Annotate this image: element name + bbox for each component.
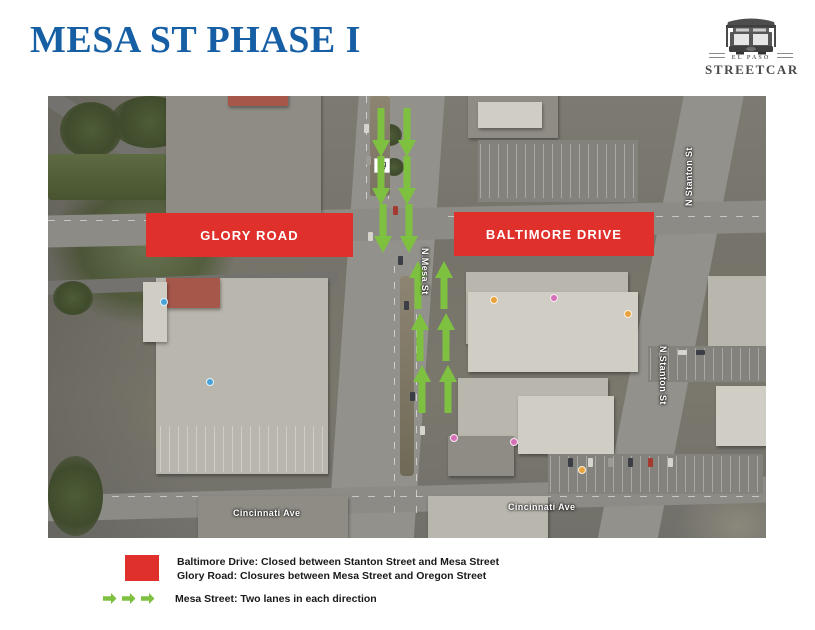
legend-line-baltimore: Baltimore Drive: Closed between Stanton … [177, 555, 499, 569]
vehicle [668, 458, 673, 467]
legend-item-closures: Baltimore Drive: Closed between Stanton … [125, 555, 499, 583]
street-label-cincinnati-ave-west: Cincinnati Ave [233, 508, 300, 518]
building-block-right-mid [468, 292, 638, 372]
streetcar-icon [720, 14, 782, 58]
southbound-lane-arrow [370, 156, 392, 206]
vehicle [420, 426, 425, 435]
right-arrow-icon [103, 592, 117, 605]
map-legend: Baltimore Drive: Closed between Stanton … [0, 540, 815, 630]
page-title: MESA ST PHASE I [30, 18, 361, 62]
right-arrow-icon [141, 592, 155, 605]
street-label-n-mesa-st: N Mesa St [420, 248, 430, 295]
poi-marker [624, 310, 632, 318]
vehicle [398, 256, 403, 265]
building-top-right-2 [478, 102, 542, 128]
vegetation-median-1 [48, 154, 168, 200]
building-arena [166, 96, 321, 218]
aerial-map[interactable]: N Mesa St N Stanton St N Stanton St Cinc… [48, 96, 766, 538]
southbound-lane-arrow [372, 204, 394, 254]
building-roof-right-dark [448, 436, 514, 476]
legend-item-lanes: Mesa Street: Two lanes in each direction [103, 592, 377, 605]
building-far-right-2 [716, 386, 766, 446]
legend-closures-text: Baltimore Drive: Closed between Stanton … [177, 555, 499, 583]
northbound-lane-arrow [409, 312, 431, 362]
banner-baltimore-drive-label: BALTIMORE DRIVE [486, 227, 622, 242]
lane-dash-mesa-1 [366, 96, 367, 206]
vegetation-patch-3 [53, 281, 93, 315]
street-label-cincinnati-ave-east: Cincinnati Ave [508, 502, 575, 512]
logo-wordmark: STREETCAR [705, 63, 797, 76]
vehicle [678, 350, 687, 355]
vehicle [696, 350, 705, 355]
lane-dash-mesa-3 [394, 266, 395, 516]
northbound-lane-arrow [437, 364, 459, 414]
poi-marker [510, 438, 518, 446]
poi-marker [550, 294, 558, 302]
map-canvas: N Mesa St N Stanton St N Stanton St Cinc… [48, 96, 766, 538]
parking-stripes-bottom-right [550, 456, 760, 492]
legend-green-arrows-swatch [103, 592, 159, 605]
building-block-right-strip [518, 396, 614, 454]
vehicle [588, 458, 593, 467]
vehicle [608, 458, 613, 467]
street-label-n-stanton-st-lower: N Stanton St [658, 346, 668, 405]
poi-marker [160, 298, 168, 306]
lane-dash-cincinnati [48, 496, 766, 497]
banner-glory-road-label: GLORY ROAD [200, 228, 298, 243]
right-arrow-icon [122, 592, 136, 605]
parking-stripes-top-right [480, 144, 636, 198]
el-paso-streetcar-logo: EL PASO STREETCAR [705, 14, 797, 86]
legend-red-square-swatch [125, 555, 159, 581]
poi-marker [490, 296, 498, 304]
building-far-right-1 [708, 276, 766, 346]
poi-marker [450, 434, 458, 442]
vehicle [628, 458, 633, 467]
vehicle [648, 458, 653, 467]
northbound-lane-arrow [433, 260, 455, 310]
poi-marker [578, 466, 586, 474]
legend-line-glory: Glory Road: Closures between Mesa Street… [177, 569, 499, 583]
northbound-lane-arrow [435, 312, 457, 362]
vegetation-patch-4 [48, 456, 103, 536]
vehicle [568, 458, 573, 467]
northbound-lane-arrow [411, 364, 433, 414]
southbound-lane-arrow [370, 108, 392, 158]
southbound-lane-arrow [398, 204, 420, 254]
southbound-lane-arrow [396, 156, 418, 206]
poi-marker [206, 378, 214, 386]
street-label-n-stanton-st-upper: N Stanton St [684, 147, 694, 206]
vehicle [364, 124, 369, 133]
building-roof-red-2 [166, 278, 220, 308]
building-roof-red-1 [228, 96, 288, 106]
parking-stripes-left [160, 426, 324, 472]
banner-glory-road[interactable]: GLORY ROAD [146, 213, 353, 257]
building-block-left-small [143, 282, 167, 342]
southbound-lane-arrow [396, 108, 418, 158]
banner-baltimore-drive[interactable]: BALTIMORE DRIVE [454, 212, 654, 256]
logo-sub-wordmark: EL PASO [705, 55, 797, 61]
page-header: MESA ST PHASE I [0, 0, 815, 96]
legend-lanes-text: Mesa Street: Two lanes in each direction [175, 593, 377, 605]
